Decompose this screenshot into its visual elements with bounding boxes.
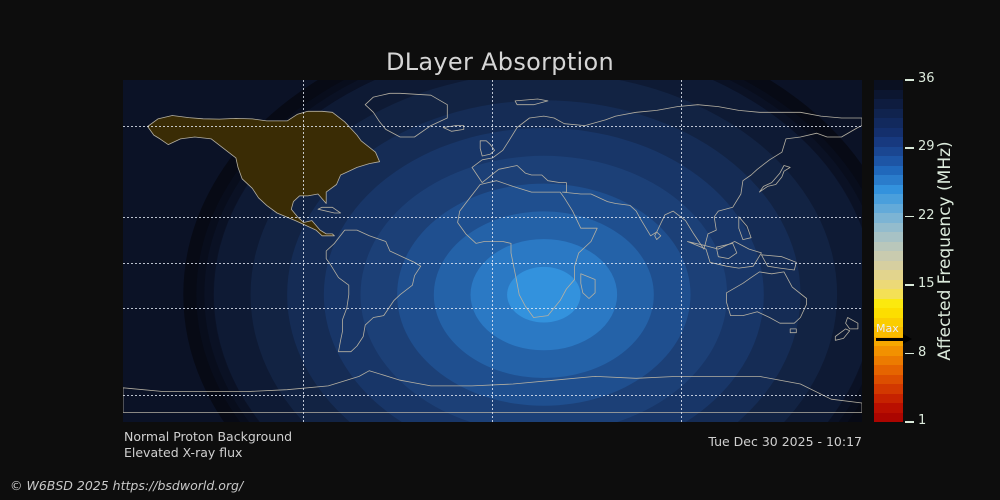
colorbar[interactable] bbox=[874, 80, 903, 422]
credit-line[interactable]: © W6BSD 2025 https://bsdworld.org/ bbox=[10, 478, 243, 493]
colorbar-band bbox=[874, 413, 903, 423]
colorbar-band bbox=[874, 90, 903, 100]
tick-label: 1 bbox=[918, 413, 926, 428]
colorbar-band bbox=[874, 251, 903, 261]
colorbar-band bbox=[874, 337, 903, 347]
status-xray-flux: Elevated X-ray flux bbox=[124, 445, 242, 460]
colorbar-band bbox=[874, 356, 903, 366]
tick-dash bbox=[905, 353, 914, 355]
colorbar-band bbox=[874, 375, 903, 385]
colorbar-band bbox=[874, 147, 903, 157]
colorbar-band bbox=[874, 242, 903, 252]
colorbar-band bbox=[874, 270, 903, 280]
colorbar-band bbox=[874, 175, 903, 185]
colorbar-band bbox=[874, 194, 903, 204]
colorbar-band bbox=[874, 394, 903, 404]
map-canvas bbox=[123, 80, 862, 422]
colorbar-band bbox=[874, 204, 903, 214]
absorption-band bbox=[507, 267, 580, 323]
colorbar-band bbox=[874, 80, 903, 90]
tick-dash bbox=[905, 284, 914, 286]
colorbar-band bbox=[874, 384, 903, 394]
colorbar-band bbox=[874, 365, 903, 375]
timestamp: Tue Dec 30 2025 - 10:17 bbox=[602, 434, 862, 449]
colorbar-band bbox=[874, 137, 903, 147]
colorbar-band bbox=[874, 280, 903, 290]
colorbar-band bbox=[874, 223, 903, 233]
colorbar-band bbox=[874, 128, 903, 138]
tick-dash bbox=[905, 216, 914, 218]
world-map[interactable] bbox=[123, 80, 862, 422]
colorbar-band bbox=[874, 166, 903, 176]
colorbar-band bbox=[874, 213, 903, 223]
colorbar-band bbox=[874, 156, 903, 166]
colorbar-band bbox=[874, 403, 903, 413]
status-proton-background: Normal Proton Background bbox=[124, 429, 292, 444]
colorbar-axis-label: Affected Frequency (MHz) bbox=[930, 80, 960, 422]
page-title: DLayer Absorption bbox=[0, 48, 1000, 76]
tick-dash bbox=[905, 79, 914, 81]
colorbar-band bbox=[874, 232, 903, 242]
colorbar-band bbox=[874, 289, 903, 299]
colorbar-band bbox=[874, 261, 903, 271]
colorbar-band bbox=[874, 118, 903, 128]
colorbar-band bbox=[874, 99, 903, 109]
tick-label: 8 bbox=[918, 345, 926, 360]
colorbar-band bbox=[874, 109, 903, 119]
tick-dash bbox=[905, 147, 914, 149]
tick-dash bbox=[905, 421, 914, 423]
colorbar-band bbox=[874, 327, 903, 337]
colorbar-band bbox=[874, 346, 903, 356]
colorbar-band bbox=[874, 318, 903, 328]
colorbar-band bbox=[874, 308, 903, 318]
colorbar-band bbox=[874, 299, 903, 309]
colorbar-band bbox=[874, 185, 903, 195]
